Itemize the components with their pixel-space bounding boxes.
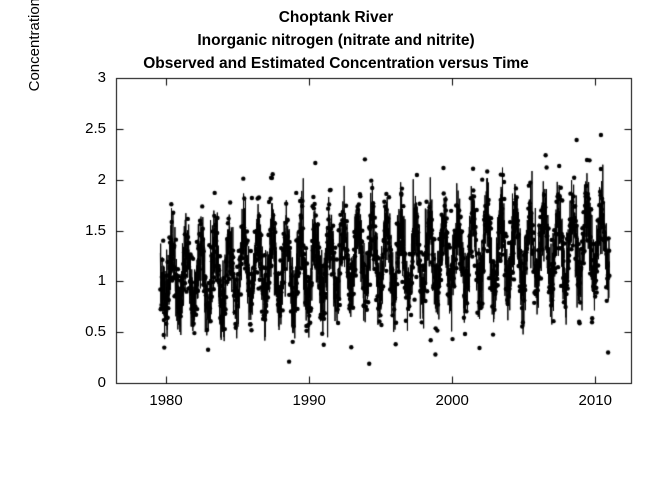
y-tick-label: 0.5 <box>66 323 106 340</box>
y-tick-label: 1.5 <box>66 222 106 239</box>
y-axis-title: Concentration in mg/l as N <box>26 0 43 133</box>
x-tick-label: 1980 <box>136 392 196 409</box>
y-tick-label: 1 <box>66 272 106 289</box>
x-tick-label: 2000 <box>422 392 482 409</box>
x-tick-label: 2010 <box>565 392 625 409</box>
y-tick-label: 2.5 <box>66 120 106 137</box>
y-tick-label: 3 <box>66 69 106 86</box>
figure-canvas: Choptank River Inorganic nitrogen (nitra… <box>0 0 672 480</box>
y-tick-label: 0 <box>66 374 106 391</box>
x-tick-label: 1990 <box>279 392 339 409</box>
y-tick-label: 2 <box>66 171 106 188</box>
